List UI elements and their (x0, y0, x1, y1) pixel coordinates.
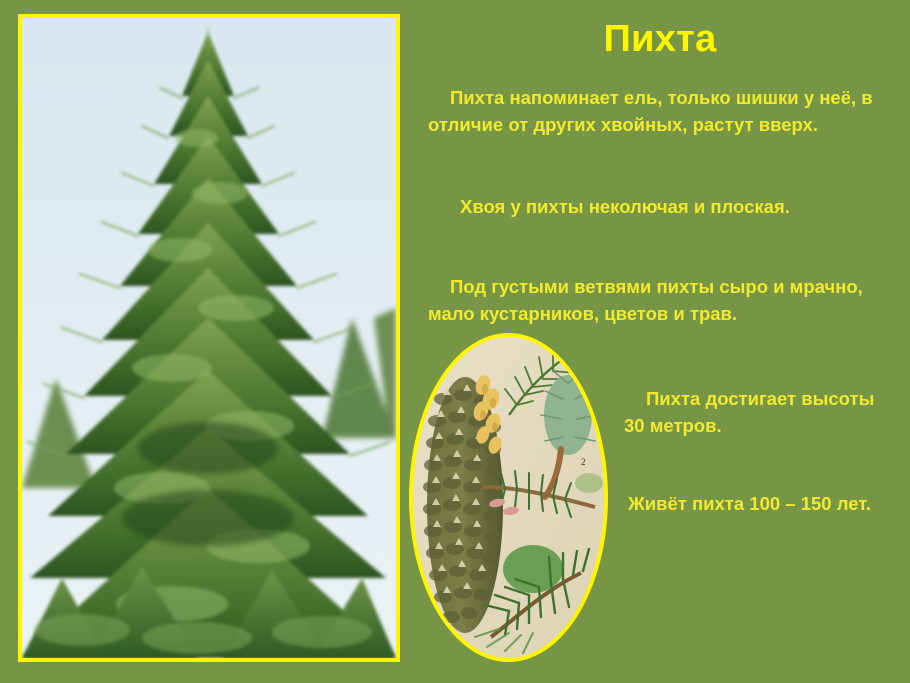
illustration-label-2: 2 (581, 457, 586, 467)
illustration-label-1: 1 (455, 351, 460, 361)
paragraph-needles: Хвоя у пихты неколючая и плоская. (428, 194, 893, 221)
paragraph-undergrowth: Под густыми ветвями пихты сыро и мрачно,… (428, 274, 893, 328)
paragraph-lifespan: Живёт пихта 100 – 150 лет. (624, 491, 904, 518)
paragraph-appearance: Пихта напоминает ель, только шишки у неё… (428, 85, 893, 139)
paragraph-height: Пихта достигает высоты 30 метров. (624, 386, 900, 440)
fir-tree-photograph (22, 18, 396, 658)
page-title: Пихта (420, 18, 900, 62)
fir-cone-botanical-illustration: 1 2 (409, 333, 608, 662)
slide-root: 1 2 Пихта Пихта напоминает ель, только ш… (0, 0, 910, 683)
fir-tree-photo-frame (18, 14, 400, 662)
